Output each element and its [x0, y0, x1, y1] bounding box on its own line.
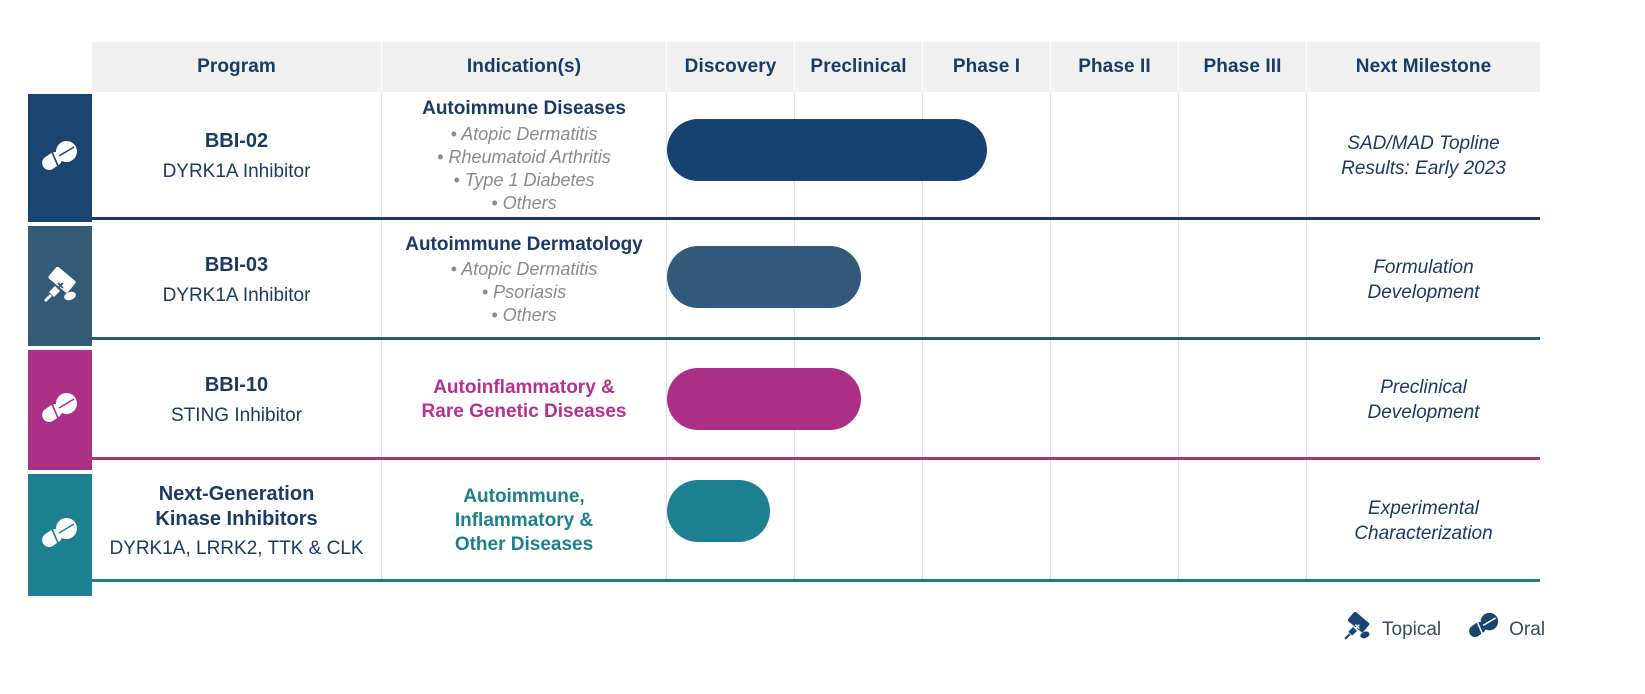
program-name: BBI-02: [205, 129, 268, 153]
cell-phase-2-bbi-10: [1051, 340, 1179, 460]
list-item: • Psoriasis: [451, 281, 598, 304]
cell-phase-3-bbi-10: [1179, 340, 1307, 460]
milestone-line-1: SAD/MAD Topline: [1347, 131, 1499, 156]
indication-title-line-1: Autoimmune,: [463, 485, 584, 509]
cell-preclinical-bbi-03: [795, 220, 923, 340]
cell-milestone-bbi-02: SAD/MAD Topline Results: Early 2023: [1307, 92, 1540, 220]
column-header-program: Program: [92, 42, 382, 92]
milestone-line-1: Formulation: [1373, 255, 1473, 280]
cell-discovery-bbi-03: [667, 220, 795, 340]
milestone-line-2: Development: [1368, 400, 1480, 425]
program-name: BBI-03: [205, 253, 268, 277]
column-header-phase-2: Phase II: [1051, 42, 1179, 92]
milestone-line-1: Experimental: [1368, 496, 1479, 521]
program-target: DYRK1A, LRRK2, TTK & CLK: [109, 538, 363, 560]
cell-preclinical-bbi-10: [795, 340, 923, 460]
program-name-line-1: Next-Generation: [159, 482, 315, 506]
route-rail-bbi-10: [28, 350, 92, 470]
table-row-bbi-03[interactable]: BBI-03 DYRK1A Inhibitor Autoimmune Derma…: [92, 220, 1540, 340]
milestone-line-2: Development: [1368, 280, 1480, 305]
indication-title-line-2: Rare Genetic Diseases: [422, 400, 627, 424]
cell-indication-next-generation: Autoimmune, Inflammatory & Other Disease…: [382, 460, 667, 582]
row-divider-teal: [92, 579, 1540, 582]
legend-item-topical: Topical: [1340, 612, 1441, 647]
tube-icon: [1340, 612, 1374, 647]
table-header-row: Program Indication(s) Discovery Preclini…: [92, 42, 1540, 92]
route-rail-bbi-03: [28, 226, 92, 346]
cell-phase-2-bbi-03: [1051, 220, 1179, 340]
cell-phase-3-bbi-02: [1179, 92, 1307, 220]
pipeline-chart: Program Indication(s) Discovery Preclini…: [0, 0, 1645, 694]
cell-preclinical-bbi-02: [795, 92, 923, 220]
legend-label-oral: Oral: [1509, 619, 1545, 641]
cell-preclinical-next-generation: [795, 460, 923, 582]
column-header-preclinical: Preclinical: [795, 42, 923, 92]
program-target: DYRK1A Inhibitor: [163, 161, 311, 183]
column-header-phase-1: Phase I: [923, 42, 1051, 92]
list-item: • Atopic Dermatitis: [451, 258, 598, 281]
indication-list: • Atopic Dermatitis • Rheumatoid Arthrit…: [437, 123, 611, 215]
legend: Topical Oral: [1340, 612, 1545, 647]
milestone-line-2: Characterization: [1354, 521, 1492, 546]
cell-phase-2-next-generation: [1051, 460, 1179, 582]
route-rail-next-gen: [28, 474, 92, 596]
pills-icon: [1467, 612, 1501, 647]
program-target: DYRK1A Inhibitor: [163, 285, 311, 307]
cell-discovery-next-generation: [667, 460, 795, 582]
cell-phase-1-bbi-02: [923, 92, 1051, 220]
table-row-bbi-02[interactable]: BBI-02 DYRK1A Inhibitor Autoimmune Disea…: [92, 92, 1540, 220]
list-item: • Type 1 Diabetes: [437, 169, 611, 192]
cell-phase-2-bbi-02: [1051, 92, 1179, 220]
pills-icon: [40, 140, 80, 176]
cell-indication-bbi-02: Autoimmune Diseases • Atopic Dermatitis …: [382, 92, 667, 220]
column-header-discovery: Discovery: [667, 42, 795, 92]
cell-milestone-bbi-10: Preclinical Development: [1307, 340, 1540, 460]
column-header-milestone: Next Milestone: [1307, 42, 1540, 92]
cell-indication-bbi-10: Autoinflammatory & Rare Genetic Diseases: [382, 340, 667, 460]
indication-title-line-2: Inflammatory &: [455, 509, 593, 533]
cell-milestone-bbi-03: Formulation Development: [1307, 220, 1540, 340]
pipeline-table: Program Indication(s) Discovery Preclini…: [92, 42, 1540, 582]
indication-title-line-1: Autoinflammatory &: [433, 376, 615, 400]
list-item: • Atopic Dermatitis: [437, 123, 611, 146]
table-row-bbi-10[interactable]: BBI-10 STING Inhibitor Autoinflammatory …: [92, 340, 1540, 460]
cell-program-bbi-10: BBI-10 STING Inhibitor: [92, 340, 382, 460]
cell-discovery-bbi-10: [667, 340, 795, 460]
program-target: STING Inhibitor: [171, 405, 302, 427]
program-name-line-2: Kinase Inhibitors: [155, 507, 317, 531]
cell-program-bbi-03: BBI-03 DYRK1A Inhibitor: [92, 220, 382, 340]
pills-icon: [40, 392, 80, 428]
indication-list: • Atopic Dermatitis • Psoriasis • Others: [451, 258, 598, 327]
cell-phase-1-bbi-10: [923, 340, 1051, 460]
tube-icon: [39, 267, 81, 305]
pills-icon: [40, 517, 80, 553]
list-item: • Others: [437, 192, 611, 215]
milestone-line-1: Preclinical: [1380, 375, 1467, 400]
cell-phase-3-next-generation: [1179, 460, 1307, 582]
table-body: BBI-02 DYRK1A Inhibitor Autoimmune Disea…: [92, 92, 1540, 582]
indication-title: Autoimmune Dermatology: [405, 233, 643, 257]
route-rail-bbi-02: [28, 94, 92, 222]
column-header-indication: Indication(s): [382, 42, 667, 92]
cell-program-bbi-02: BBI-02 DYRK1A Inhibitor: [92, 92, 382, 220]
cell-milestone-next-generation: Experimental Characterization: [1307, 460, 1540, 582]
cell-discovery-bbi-02: [667, 92, 795, 220]
list-item: • Rheumatoid Arthritis: [437, 146, 611, 169]
program-name: BBI-10: [205, 373, 268, 397]
indication-title-line-3: Other Diseases: [455, 533, 593, 557]
indication-title: Autoimmune Diseases: [422, 97, 626, 121]
table-row-next-generation[interactable]: Next-Generation Kinase Inhibitors DYRK1A…: [92, 460, 1540, 582]
cell-phase-1-bbi-03: [923, 220, 1051, 340]
cell-phase-3-bbi-03: [1179, 220, 1307, 340]
legend-item-oral: Oral: [1467, 612, 1545, 647]
cell-indication-bbi-03: Autoimmune Dermatology • Atopic Dermatit…: [382, 220, 667, 340]
milestone-line-2: Results: Early 2023: [1341, 156, 1506, 181]
cell-program-next-generation: Next-Generation Kinase Inhibitors DYRK1A…: [92, 460, 382, 582]
legend-label-topical: Topical: [1382, 619, 1441, 641]
column-header-phase-3: Phase III: [1179, 42, 1307, 92]
cell-phase-1-next-generation: [923, 460, 1051, 582]
list-item: • Others: [451, 304, 598, 327]
